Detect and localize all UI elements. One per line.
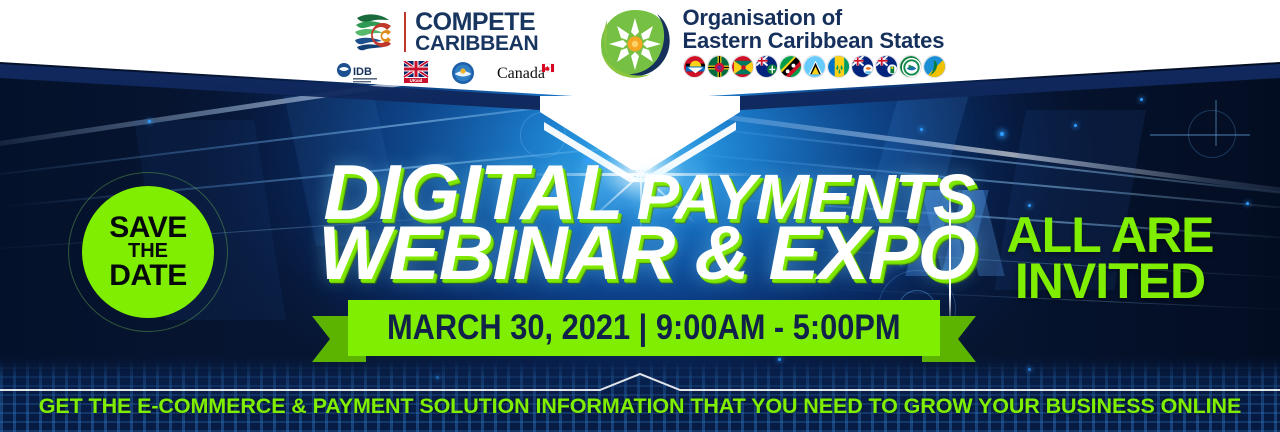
flag-saint-kitts-and-nevis bbox=[779, 55, 802, 78]
partner-canada: Canada bbox=[497, 62, 555, 84]
circuit-line bbox=[1150, 134, 1250, 136]
oecs-mark-icon bbox=[597, 6, 673, 82]
vertical-divider bbox=[949, 189, 951, 317]
ribbon-band: MARCH 30, 2021 | 9:00AM - 5:00PM bbox=[348, 300, 940, 356]
canada-wordmark-icon: Canada bbox=[497, 62, 555, 84]
partner-cdb bbox=[451, 61, 475, 85]
glow-dot bbox=[1000, 132, 1004, 136]
oecs-line1: Organisation of bbox=[683, 6, 946, 29]
partner-ukaid: UKaid bbox=[403, 61, 429, 85]
flag-grenada bbox=[731, 55, 754, 78]
compete-caribbean-line2: CARIBBEAN bbox=[415, 34, 538, 53]
idb-logo-icon: IDB bbox=[335, 62, 381, 84]
svg-text:Canada: Canada bbox=[497, 65, 545, 82]
glow-dot bbox=[1074, 124, 1077, 127]
footer-tagline-text: GET THE E-COMMERCE & PAYMENT SOLUTION IN… bbox=[39, 394, 1241, 418]
partner-logo-row: IDB UKaid bbox=[335, 60, 555, 86]
flag-guadeloupe bbox=[923, 55, 946, 78]
flag-martinique bbox=[899, 55, 922, 78]
compete-caribbean-mark-icon bbox=[351, 10, 395, 54]
svg-text:IDB: IDB bbox=[353, 66, 372, 78]
sponsor-logo-row: COMPETE CARIBBEAN IDB bbox=[0, 4, 1280, 100]
glow-dot bbox=[920, 128, 923, 131]
invitation-block: ALL ARE INVITED bbox=[960, 212, 1260, 304]
event-date-ribbon: MARCH 30, 2021 | 9:00AM - 5:00PM bbox=[312, 300, 976, 362]
cdb-logo-icon bbox=[451, 61, 475, 85]
title-line-webinar-expo: WEBINAR & EXPO bbox=[318, 221, 975, 288]
flag-dominica bbox=[707, 55, 730, 78]
footer-tagline: GET THE E-COMMERCE & PAYMENT SOLUTION IN… bbox=[0, 394, 1280, 419]
partner-idb: IDB bbox=[335, 62, 381, 84]
flag-saint-lucia bbox=[803, 55, 826, 78]
divider-line-with-peak bbox=[0, 372, 1280, 396]
invitation-line1: ALL ARE bbox=[960, 212, 1260, 258]
compete-caribbean-logo: COMPETE CARIBBEAN IDB bbox=[335, 4, 555, 86]
svg-text:UKaid: UKaid bbox=[409, 78, 422, 83]
flag-anguilla bbox=[851, 55, 874, 78]
flag-british-virgin-islands bbox=[875, 55, 898, 78]
oecs-member-flags bbox=[683, 55, 946, 78]
ukaid-logo-icon: UKaid bbox=[403, 61, 429, 85]
oecs-line2: Eastern Caribbean States bbox=[683, 29, 946, 52]
logo-divider bbox=[404, 12, 407, 52]
oecs-logo: Organisation of Eastern Caribbean States bbox=[597, 4, 946, 82]
flag-antigua-and-barbuda bbox=[683, 55, 706, 78]
compete-caribbean-line1: COMPETE bbox=[415, 11, 538, 34]
flag-montserrat bbox=[755, 55, 778, 78]
circuit-line bbox=[1215, 100, 1217, 146]
event-datetime-text: MARCH 30, 2021 | 9:00AM - 5:00PM bbox=[387, 308, 901, 348]
event-promo-banner: COMPETE CARIBBEAN IDB bbox=[0, 0, 1280, 432]
invitation-line2: INVITED bbox=[960, 258, 1260, 304]
glow-dot bbox=[148, 120, 151, 123]
flag-saint-vincent-and-the-grenadines bbox=[827, 55, 850, 78]
